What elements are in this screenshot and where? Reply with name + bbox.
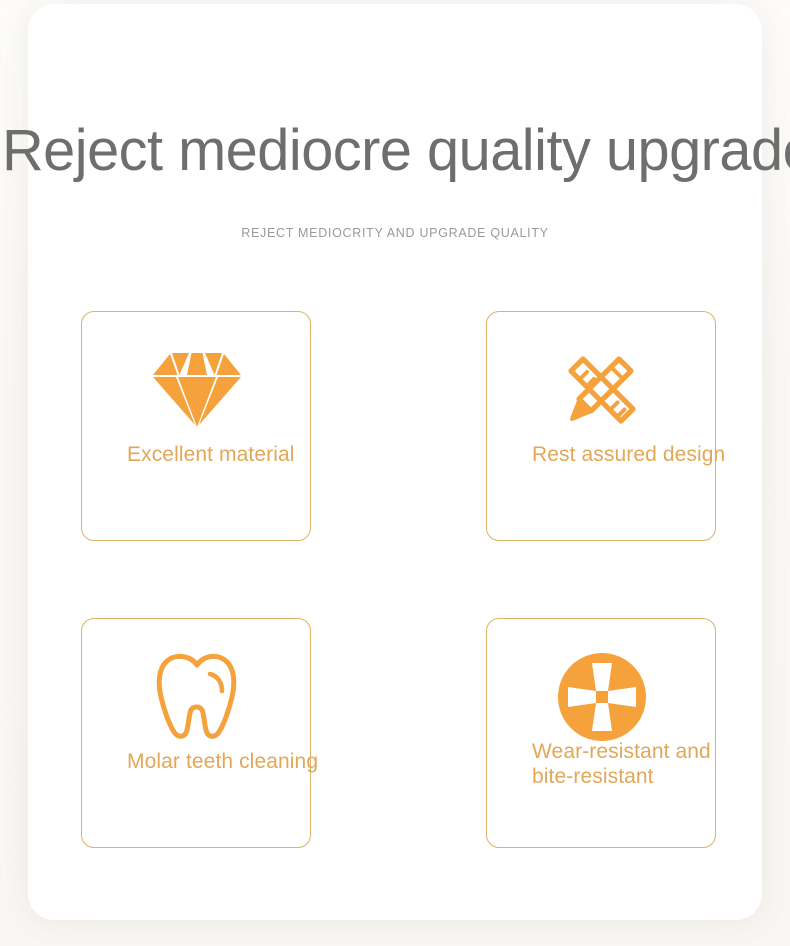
feature-card-label: Wear-resistant and bite-resistant [532, 739, 790, 789]
feature-card-label: Excellent material [127, 442, 457, 467]
feature-card-molar-teeth-cleaning[interactable]: Molar teeth cleaning [81, 618, 311, 848]
tooth-icon [82, 647, 312, 747]
feature-card-label: Molar teeth cleaning [127, 749, 457, 774]
pencil-ruler-icon [487, 340, 717, 440]
page-title: Reject mediocre quality upgrades [2, 116, 788, 186]
diamond-icon [82, 340, 312, 440]
feature-card-excellent-material[interactable]: Excellent material [81, 311, 311, 541]
page-root: Reject mediocre quality upgrades REJECT … [0, 0, 790, 946]
page-subtitle: REJECT MEDIOCRITY AND UPGRADE QUALITY [0, 224, 790, 242]
feature-card-wear-resistant[interactable]: Wear-resistant and bite-resistant [486, 618, 716, 848]
cross-circle-icon [487, 647, 717, 747]
feature-card-label: Rest assured design [532, 442, 790, 467]
feature-card-rest-assured-design[interactable]: Rest assured design [486, 311, 716, 541]
